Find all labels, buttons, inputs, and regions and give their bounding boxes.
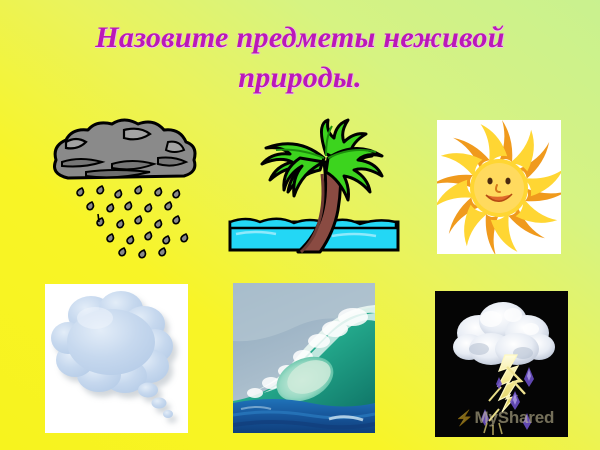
lightning-icon bbox=[435, 291, 568, 437]
palm-tree-icon bbox=[228, 118, 400, 258]
figure-palm-tree[interactable] bbox=[228, 118, 400, 258]
sun-icon bbox=[437, 120, 561, 254]
rain-cloud-icon bbox=[28, 112, 208, 260]
slide-canvas: Назовите предметы неживой природы. bbox=[0, 0, 600, 450]
ocean-wave-photo bbox=[233, 283, 375, 433]
figure-rain-cloud[interactable] bbox=[28, 112, 208, 260]
figure-lightning[interactable]: ⚡MyShared bbox=[435, 291, 568, 437]
cloud-icon bbox=[45, 284, 188, 433]
figure-ocean-wave[interactable] bbox=[233, 283, 375, 433]
figure-sun[interactable] bbox=[437, 120, 561, 254]
page-title: Назовите предметы неживой природы. bbox=[50, 18, 550, 98]
figure-cloud[interactable] bbox=[45, 284, 188, 433]
